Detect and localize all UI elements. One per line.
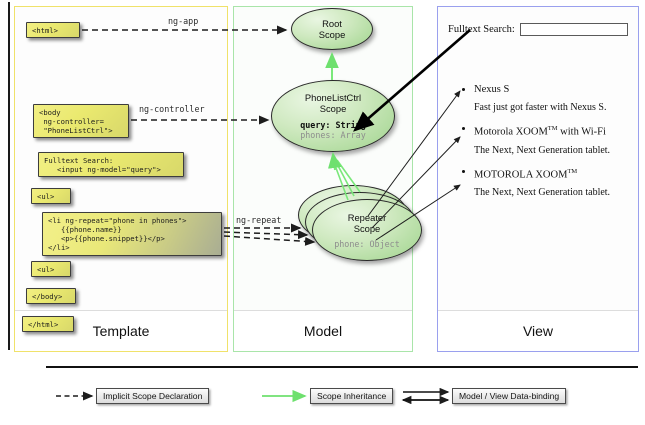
list-item[interactable]: Motorola XOOMTM with Wi-Fi The Next, Nex…: [460, 122, 632, 157]
relation-label-ng-app: ng-app: [168, 16, 198, 26]
list-item[interactable]: MOTOROLA XOOMTM The Next, Next Generatio…: [460, 165, 632, 200]
code-box-body-close[interactable]: </body>: [26, 288, 76, 304]
code-box-body-open[interactable]: <body ng-controller= "PhoneListCtrl">: [33, 104, 129, 138]
phone-name: Nexus S: [460, 83, 632, 96]
phone-name: Motorola XOOMTM with Wi-Fi: [460, 122, 632, 139]
relation-label-ng-controller: ng-controller: [139, 104, 205, 114]
scope-title-repeater: RepeaterScope: [348, 212, 387, 234]
trademark-icon: TM: [567, 168, 577, 175]
code-box-ul-open[interactable]: <ul>: [31, 188, 71, 204]
code-box-ul-close[interactable]: <ul>: [31, 261, 71, 277]
view-phone-list: Nexus S Fast just got faster with Nexus …: [460, 83, 632, 207]
scope-ellipse-root[interactable]: RootScope: [291, 8, 373, 50]
scope-title-root: RootScope: [319, 18, 346, 40]
phone-snippet: The Next, Next Generation tablet.: [460, 144, 632, 157]
diagram-canvas: Template <html> <body ng-controller= "Ph…: [0, 0, 645, 425]
scope-ellipse-repeater[interactable]: RepeaterScope phone: Object: [312, 199, 422, 261]
phone-name-suffix: with Wi-Fi: [558, 127, 606, 138]
phone-snippet: The Next, Next Generation tablet.: [460, 186, 632, 199]
legend-item-scope-inheritance: Scope Inheritance: [310, 386, 393, 406]
legend-label-model-view-data-binding: Model / View Data-binding: [452, 388, 566, 404]
code-box-search-input[interactable]: Fulltext Search: <input ng-model="query"…: [38, 152, 184, 177]
legend-divider: [46, 366, 638, 368]
legend-item-implicit-scope-declaration: Implicit Scope Declaration: [96, 386, 209, 406]
phone-snippet: Fast just got faster with Nexus S.: [460, 101, 632, 114]
scope-prop-phone: phone: Object: [334, 239, 400, 249]
column-model: Model: [233, 6, 413, 352]
trademark-icon: TM: [548, 125, 558, 132]
scope-prop-query: query: String: [300, 120, 366, 130]
column-label-model: Model: [234, 310, 412, 351]
column-view: Fulltext Search: Nexus S Fast just got f…: [437, 6, 639, 352]
column-label-view: View: [438, 310, 638, 351]
fulltext-search-input[interactable]: [520, 23, 628, 36]
phone-name: MOTOROLA XOOMTM: [460, 165, 632, 182]
legend-arrow-model-view-data-binding: [403, 392, 448, 400]
left-frame-rule: [8, 2, 10, 350]
scope-prop-phones: phones: Array: [300, 130, 366, 140]
code-box-html-open[interactable]: <html>: [26, 22, 80, 38]
code-box-li-ng-repeat[interactable]: <li ng-repeat="phone in phones"> {{phone…: [42, 212, 222, 256]
view-search-row: Fulltext Search:: [448, 23, 628, 36]
code-box-html-close[interactable]: </html>: [22, 316, 74, 332]
phone-name-text: Motorola XOOM: [474, 127, 548, 138]
legend-label-scope-inheritance: Scope Inheritance: [310, 388, 393, 404]
relation-label-ng-repeat: ng-repeat: [236, 215, 281, 225]
legend-label-implicit-scope-declaration: Implicit Scope Declaration: [96, 388, 209, 404]
legend-item-model-view-data-binding: Model / View Data-binding: [452, 386, 566, 406]
phone-name-text: MOTOROLA XOOM: [474, 169, 567, 180]
view-search-label: Fulltext Search:: [448, 24, 515, 35]
list-item[interactable]: Nexus S Fast just got faster with Nexus …: [460, 83, 632, 114]
view-rendered-page: Fulltext Search: Nexus S Fast just got f…: [438, 7, 638, 311]
phone-name-text: Nexus S: [474, 84, 509, 95]
scope-title-phonelistctrl: PhoneListCtrlScope: [305, 92, 361, 114]
scope-ellipse-phonelistctrl[interactable]: PhoneListCtrlScope query: String phones:…: [271, 80, 395, 152]
